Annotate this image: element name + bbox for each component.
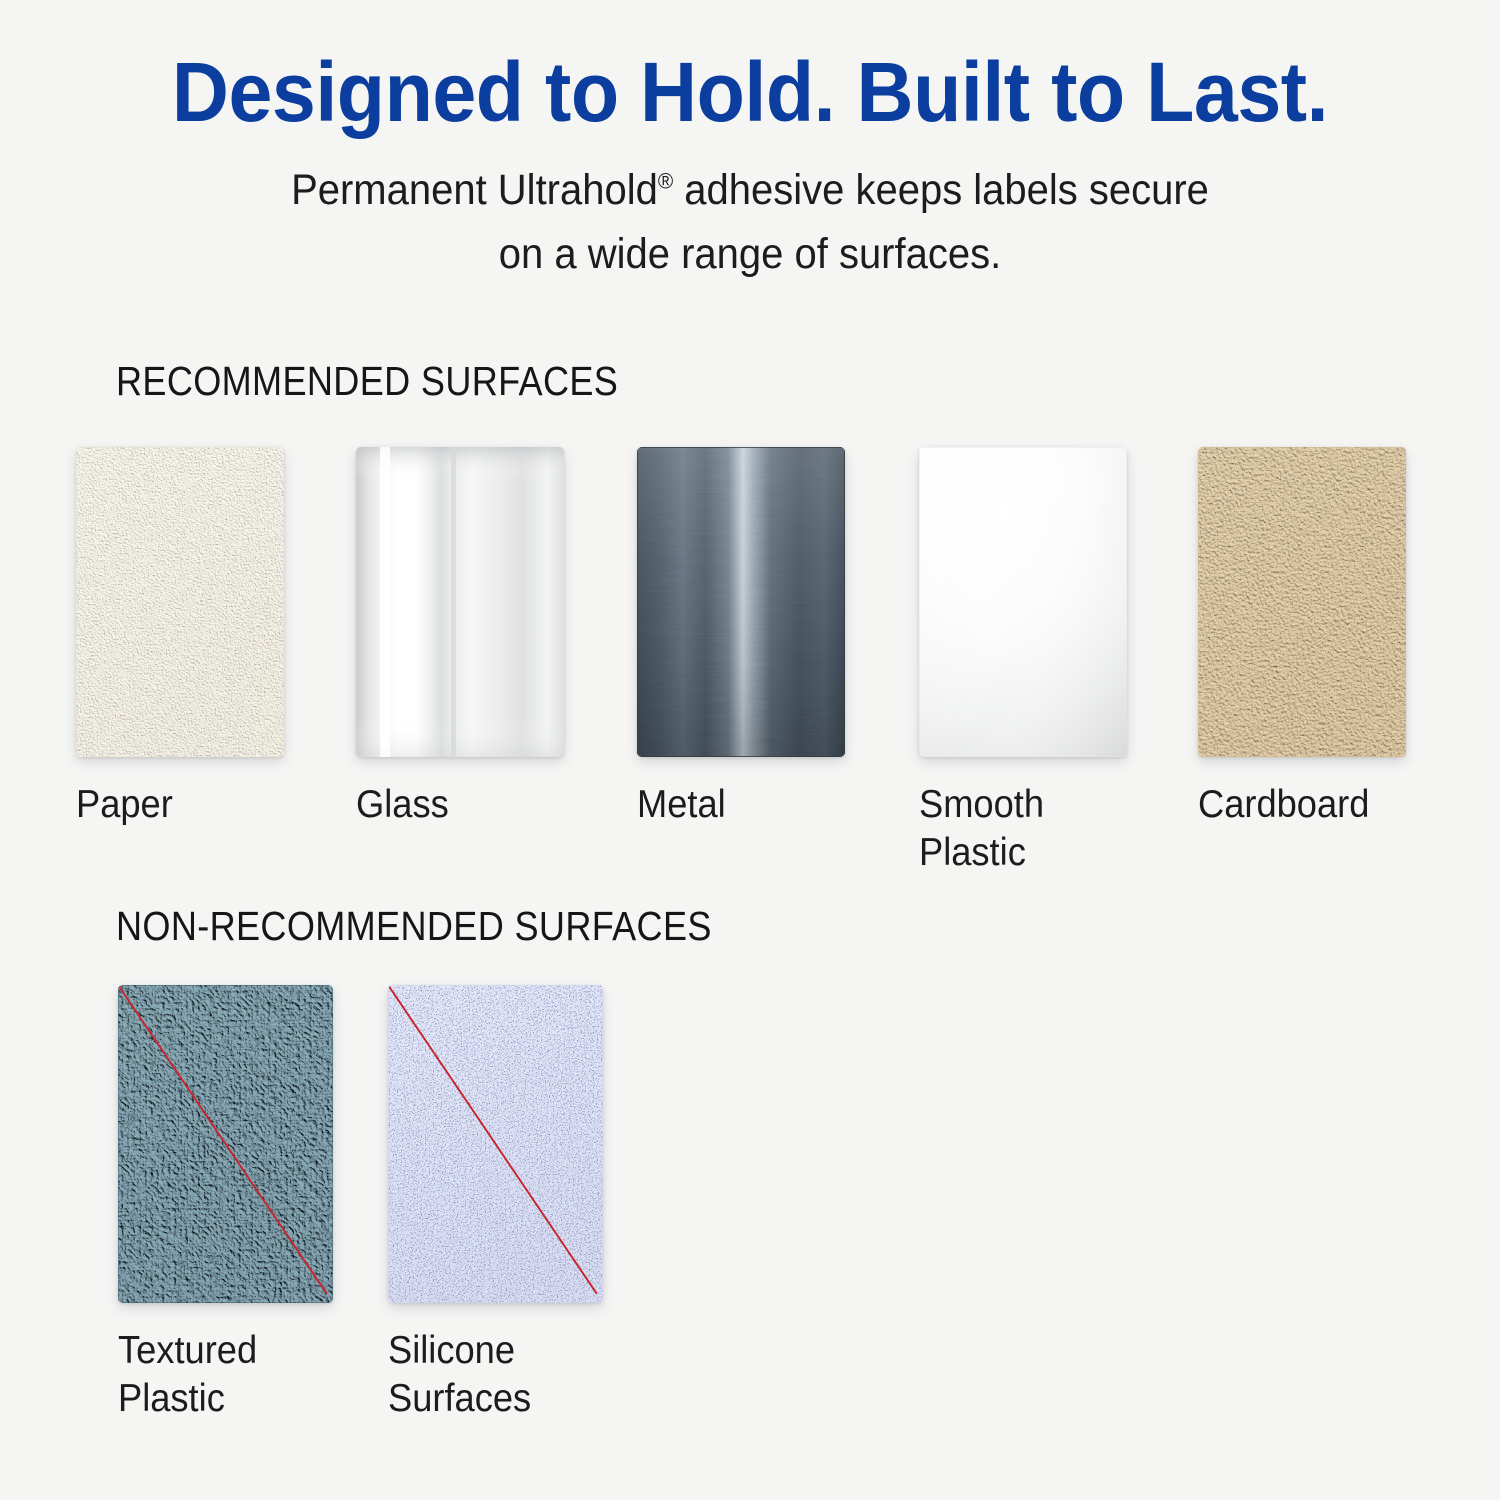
subheadline-text-pre: Permanent Ultrahold [291, 166, 658, 214]
surface-label-smooth-plastic: Smooth Plastic [919, 781, 1112, 877]
surface-item-glass: Glass [356, 447, 564, 829]
recommended-section-title: RECOMMENDED SURFACES [116, 358, 618, 405]
cardboard-swatch [1198, 447, 1406, 757]
paper-swatch [76, 447, 284, 757]
subheadline-line-2: on a wide range of surfaces. [53, 222, 1448, 286]
page-headline: Designed to Hold. Built to Last. [45, 44, 1455, 140]
subheadline-text-post: adhesive keeps labels secure [673, 166, 1209, 214]
surface-label-silicone: Silicone Surfaces [388, 1327, 588, 1423]
surface-label-textured-plastic: Textured Plastic [118, 1327, 318, 1423]
surface-item-textured-plastic: Textured Plastic [118, 985, 333, 1423]
surface-item-cardboard: Cardboard [1198, 447, 1406, 829]
non-recommended-surfaces-row: Textured Plastic [118, 985, 678, 1415]
surface-item-smooth-plastic: Smooth Plastic [919, 447, 1127, 877]
surface-label-metal: Metal [637, 781, 830, 829]
textured-plastic-swatch [118, 985, 333, 1303]
registered-trademark-icon: ® [658, 169, 673, 194]
page-subheadline: Permanent Ultrahold® adhesive keeps labe… [53, 158, 1448, 286]
silicone-swatch [388, 985, 603, 1303]
surface-label-cardboard: Cardboard [1198, 781, 1391, 829]
metal-swatch [637, 447, 845, 757]
surface-label-glass: Glass [356, 781, 549, 829]
surface-label-paper: Paper [76, 781, 269, 829]
surface-item-paper: Paper [76, 447, 284, 829]
surface-item-metal: Metal [637, 447, 845, 829]
non-recommended-section-title: NON-RECOMMENDED SURFACES [116, 903, 712, 950]
recommended-surfaces-row: Paper [76, 447, 1436, 867]
subheadline-line-1: Permanent Ultrahold® adhesive keeps labe… [53, 158, 1448, 222]
surface-item-silicone: Silicone Surfaces [388, 985, 603, 1423]
glass-swatch [356, 447, 564, 757]
smooth-plastic-swatch [919, 447, 1127, 757]
infographic-page: Designed to Hold. Built to Last. Permane… [0, 0, 1500, 1500]
